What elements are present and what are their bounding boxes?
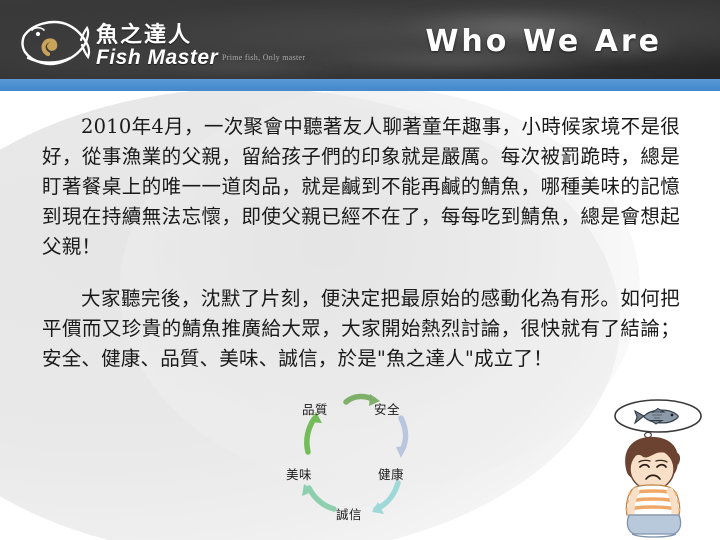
cycle-label-quality: 品質 (302, 399, 328, 418)
cycle-label-tasty: 美味 (286, 464, 312, 483)
values-cycle-diagram: 品質 安全 健康 誠信 美味 (268, 388, 448, 536)
header-accent-bar (0, 79, 720, 91)
fish-logo-icon (18, 14, 92, 72)
slide-who-we-are: 魚之達人 Fish Master Prime fish, Only master… (0, 0, 720, 540)
page-title: Who We Are (425, 24, 662, 59)
body-paragraph-1: 2010年4月，一次聚會中聽著友人聊著童年趣事，小時候家境不是很好，從事漁業的父… (42, 112, 680, 262)
pants (627, 515, 680, 534)
body-paragraph-2: 大家聽完後，沈默了片刻，便決定把最原始的感動化為有形。如何把平價而又珍貴的鯖魚推… (42, 284, 680, 374)
cycle-label-integrity: 誠信 (336, 504, 362, 523)
kneeling-boy-illustration (596, 393, 712, 540)
cycle-label-safety: 安全 (374, 399, 400, 418)
arrow-safety-to-health (396, 418, 407, 458)
brand-tagline: Prime fish, Only master (222, 53, 305, 62)
arrow-integrity-to-tasty (302, 484, 334, 509)
brand-name-cn: 魚之達人 (96, 24, 218, 46)
arrow-tasty-to-quality (307, 412, 322, 452)
brand-logo[interactable]: 魚之達人 Fish Master (18, 10, 348, 72)
brand-name-en: Fish Master (96, 47, 218, 68)
cycle-label-health: 健康 (378, 464, 404, 483)
arrow-health-to-integrity (372, 483, 398, 514)
